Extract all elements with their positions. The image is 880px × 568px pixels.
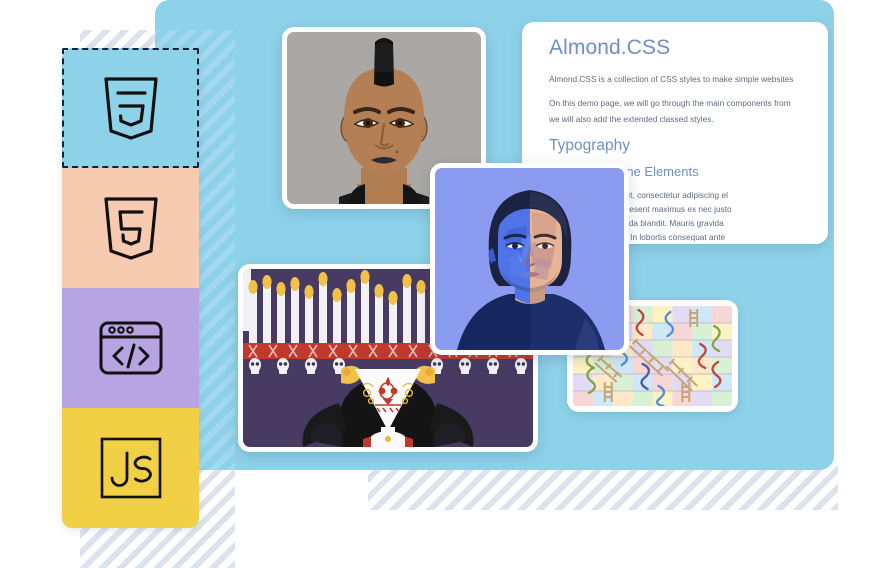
- sidebar-item-code-window[interactable]: [62, 288, 199, 408]
- doc-paragraph-1: Almond.CSS is a collection of CSS styles…: [549, 73, 828, 86]
- page-title: Almond.CSS: [549, 36, 828, 60]
- code-window-icon: [96, 317, 166, 379]
- stripe-block-bottom: [368, 466, 838, 510]
- css3-shield-icon: [100, 73, 162, 143]
- sidebar-item-html5[interactable]: [62, 168, 199, 288]
- portrait-duotone-card[interactable]: [430, 163, 629, 355]
- portrait-duotone-illustration: [435, 168, 624, 350]
- doc-paragraph-2: On this demo page, we will go through th…: [549, 97, 828, 110]
- palette-sidebar: [62, 48, 199, 528]
- sidebar-item-css3[interactable]: [62, 48, 199, 168]
- sidebar-item-javascript[interactable]: [62, 408, 199, 528]
- canvas-stage: Almond.CSS Almond.CSS is a collection of…: [0, 0, 880, 568]
- js-square-icon: [98, 435, 164, 501]
- section-heading-typography: Typography: [549, 137, 828, 155]
- html5-shield-icon: [100, 193, 162, 263]
- doc-paragraph-3: we will also add the extended classed st…: [549, 113, 828, 126]
